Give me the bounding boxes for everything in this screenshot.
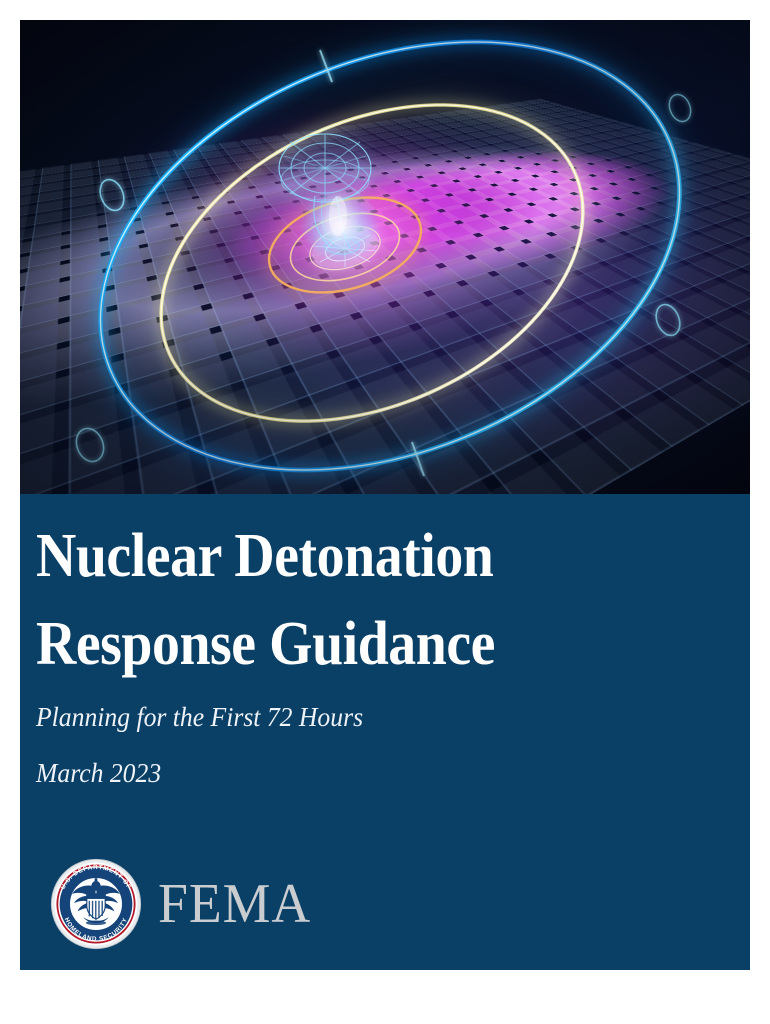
document-cover-page: Nuclear Detonation Response Guidance Pla… bbox=[0, 0, 770, 1024]
fema-wordmark: FEMA bbox=[158, 876, 311, 932]
page-subtitle: Planning for the First 72 Hours bbox=[36, 700, 363, 734]
publication-date: March 2023 bbox=[36, 756, 161, 790]
page-title-line-1: Nuclear Detonation bbox=[36, 512, 666, 600]
cover-artwork bbox=[20, 20, 750, 494]
dhs-seal-icon: U.S. DEPARTMENT OF HOMELAND SECURITY bbox=[50, 858, 142, 950]
agency-lockup: U.S. DEPARTMENT OF HOMELAND SECURITY bbox=[50, 858, 318, 950]
art-overlay-svg bbox=[20, 20, 750, 494]
title-panel: Nuclear Detonation Response Guidance Pla… bbox=[20, 494, 750, 970]
page-title-line-2: Response Guidance bbox=[36, 600, 666, 688]
page-title: Nuclear Detonation Response Guidance bbox=[36, 512, 666, 688]
detonation-column bbox=[329, 196, 347, 236]
